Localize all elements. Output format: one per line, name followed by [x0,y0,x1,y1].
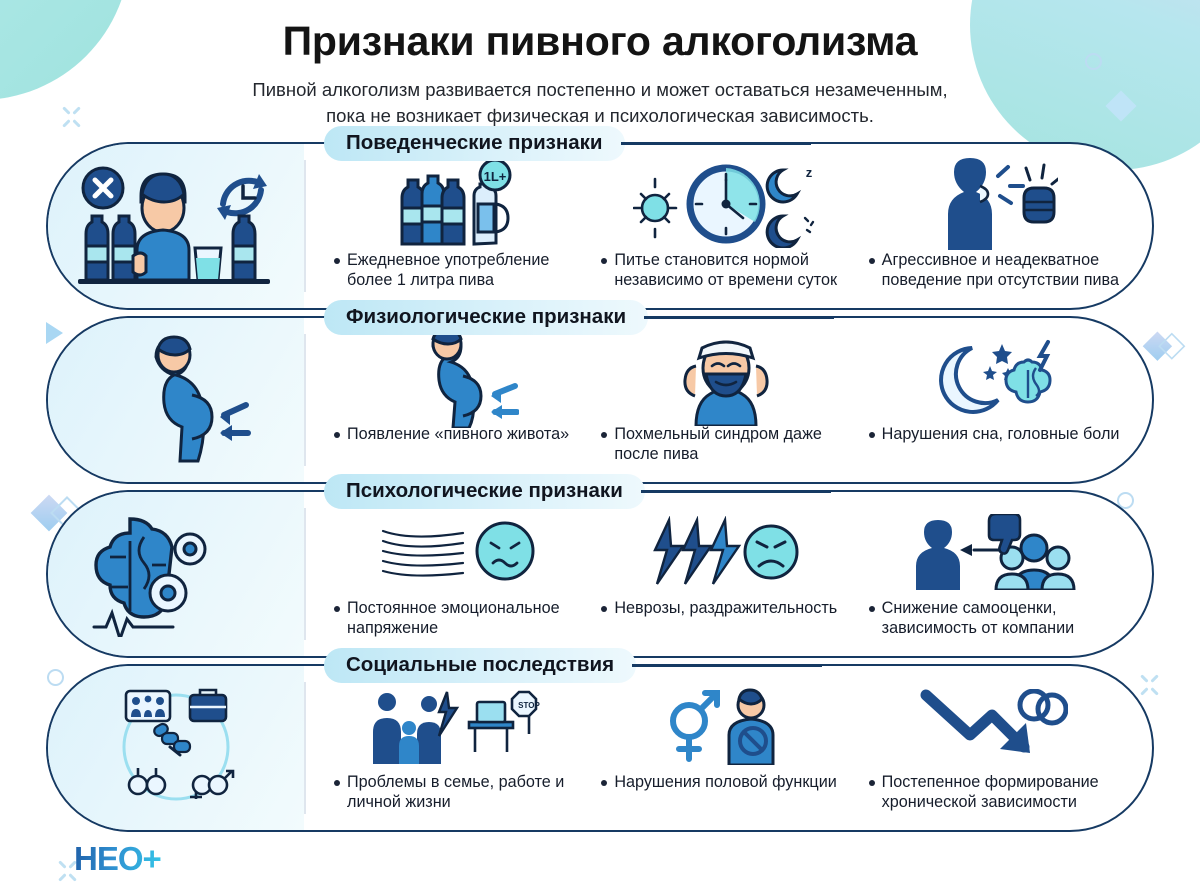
section-illustration-behavioral [48,144,304,308]
tense-wavy-lines-sad-face-icon [379,506,539,598]
item-drinking-anytime: z Питье становится нормой независимо от … [597,158,854,291]
section-divider [304,334,306,466]
bullet-item: Постоянное эмоциональное напряжение [330,598,587,639]
section-social: STOP Проблемы в семье, работе и личной ж… [46,664,1154,832]
section-divider [304,508,306,640]
section-card: STOP Проблемы в семье, работе и личной ж… [46,664,1154,832]
page-subtitle: Пивной алкоголизм развивается постепенно… [160,77,1040,128]
section-tab-psychological: Психологические признаки [324,474,831,509]
svg-text:z: z [806,165,813,180]
bullet-dot [601,432,607,438]
section-tab-rule [641,490,831,493]
gender-symbol-blocked-man-icon [661,680,791,772]
bullet-item: Постепенное формирование хронической зав… [865,772,1122,813]
section-illustration-physiological [48,318,304,482]
thumbs-down-group-icon [908,506,1078,598]
section-tab-label: Поведенческие признаки [324,126,625,161]
bullet-text: Проблемы в семье, работе и личной жизни [347,772,587,813]
sections-list: 1L+ Ежедневное употребление более 1 литр… [0,142,1200,832]
lightning-angry-face-icon [651,506,801,598]
family-conflict-desk-stop-icon: STOP [371,680,546,772]
bullet-dot [334,258,340,264]
bullet-text: Постоянное эмоциональное напряжение [347,598,587,639]
shouting-man-fist-icon [928,158,1058,250]
page-subtitle-line-1: Пивной алкоголизм развивается постепенно… [160,77,1040,103]
section-card: 1L+ Ежедневное употребление более 1 литр… [46,142,1154,310]
section-illustration-social [48,666,304,830]
bullet-item: Агрессивное и неадекватное поведение при… [865,250,1122,291]
page-subtitle-line-2: пока не возникает физическая и психологи… [160,103,1040,129]
bullet-item: Нарушения сна, головные боли [865,424,1122,444]
section-physiological: Появление «пивного живота» [46,316,1154,484]
bullet-dot [334,432,340,438]
hangover-headache-man-icon [666,332,786,424]
bullet-text: Появление «пивного живота» [347,424,569,444]
item-aggressive-behavior: Агрессивное и неадекватное поведение при… [865,158,1122,291]
section-card: Постоянное эмоциональное напряжение [46,490,1154,658]
bullet-dot [334,606,340,612]
bullet-dot [601,780,607,786]
bullet-dot [869,606,875,612]
three-bottles-and-1l-mug-icon: 1L+ [394,158,524,250]
bullet-item: Неврозы, раздражительность [597,598,854,618]
section-tab-label: Физиологические признаки [324,300,648,335]
section-tab-rule [632,664,822,667]
brand-logo: НЕО+ [74,840,161,878]
bullet-text: Постепенное формирование хронической зав… [882,772,1122,813]
item-sleep-disorders: Нарушения сна, головные боли [865,332,1122,444]
section-divider [304,682,306,814]
section-tab-social: Социальные последствия [324,648,822,683]
item-low-self-esteem: Снижение самооценки, зависимость от комп… [865,506,1122,639]
bullet-item: Нарушения половой функции [597,772,854,792]
page-title: Признаки пивного алкоголизма [0,18,1200,65]
bullet-dot [869,780,875,786]
bullet-text: Агрессивное и неадекватное поведение при… [882,250,1122,291]
svg-text:1L+: 1L+ [483,169,506,184]
section-tab-label: Психологические признаки [324,474,645,509]
bullet-text: Питье становится нормой независимо от вр… [614,250,854,291]
bullet-item: Ежедневное употребление более 1 литра пи… [330,250,587,291]
sun-clock-moon-icon: z [633,158,818,250]
bullet-item: Появление «пивного живота» [330,424,587,444]
section-psychological: Постоянное эмоциональное напряжение [46,490,1154,658]
section-card: Появление «пивного живота» [46,316,1154,484]
bullet-text: Похмельный синдром даже после пива [614,424,854,465]
bullet-text: Нарушения половой функции [614,772,836,792]
bullet-dot [601,606,607,612]
bullet-text: Нарушения сна, головные боли [882,424,1120,444]
bullet-dot [601,258,607,264]
section-tab-rule [644,316,834,319]
bullet-item: Похмельный синдром даже после пива [597,424,854,465]
section-divider [304,160,306,292]
page-header: Признаки пивного алкоголизма Пивной алко… [0,0,1200,128]
bullet-dot [334,780,340,786]
beer-belly-profile-arrows-icon [399,332,519,424]
bullet-item: Снижение самооценки, зависимость от комп… [865,598,1122,639]
item-hangover: Похмельный синдром даже после пива [597,332,854,465]
item-neurosis: Неврозы, раздражительность [597,506,854,618]
bullet-text: Ежедневное употребление более 1 литра пи… [347,250,587,291]
moon-stars-brain-icon [928,332,1058,424]
section-illustration-psychological [48,492,304,656]
section-tab-rule [621,142,811,145]
bullet-dot [869,258,875,264]
item-family-problems: STOP Проблемы в семье, работе и личной ж… [330,680,587,813]
item-chronic-dependence: Постепенное формирование хронической зав… [865,680,1122,813]
svg-text:STOP: STOP [518,701,540,710]
bullet-text: Снижение самооценки, зависимость от комп… [882,598,1122,639]
bullet-text: Неврозы, раздражительность [614,598,837,618]
down-arrow-chain-rings-icon [918,680,1068,772]
section-behavioral: 1L+ Ежедневное употребление более 1 литр… [46,142,1154,310]
item-daily-consumption: 1L+ Ежедневное употребление более 1 литр… [330,158,587,291]
section-tab-label: Социальные последствия [324,648,636,683]
section-tab-physiological: Физиологические признаки [324,300,834,335]
bullet-item: Проблемы в семье, работе и личной жизни [330,772,587,813]
item-emotional-tension: Постоянное эмоциональное напряжение [330,506,587,639]
item-sexual-dysfunction: Нарушения половой функции [597,680,854,792]
item-beer-belly: Появление «пивного живота» [330,332,587,444]
bullet-item: Питье становится нормой независимо от вр… [597,250,854,291]
section-tab-behavioral: Поведенческие признаки [324,126,811,161]
bullet-dot [869,432,875,438]
